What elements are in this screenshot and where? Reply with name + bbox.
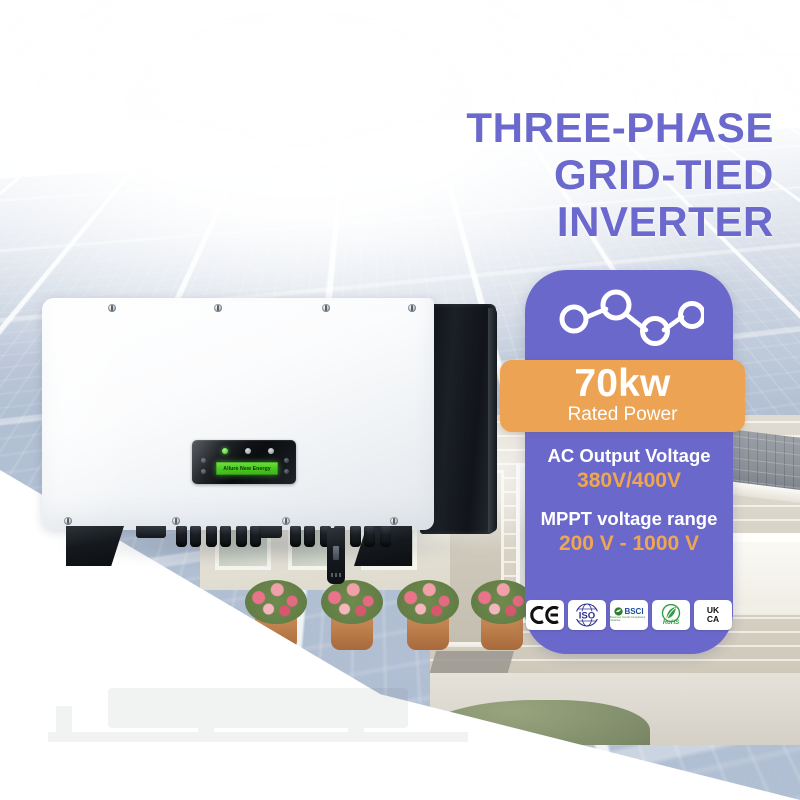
dc-connector bbox=[206, 526, 217, 547]
dc-connector bbox=[220, 526, 231, 547]
cover-screw bbox=[390, 517, 398, 525]
headline-line-3: INVERTER bbox=[254, 198, 774, 245]
inverter-ghost-reflection bbox=[48, 688, 468, 780]
specification-list: AC Output Voltage 380V/400V MPPT voltage… bbox=[525, 444, 733, 557]
mounting-bracket-left bbox=[66, 526, 124, 566]
certification-badge-group: ISO BSCI Business Social Compliance Init… bbox=[525, 600, 733, 630]
bsci-certification-badge: BSCI Business Social Compliance Initiati… bbox=[610, 600, 648, 630]
ghost-connector bbox=[56, 706, 72, 732]
ce-certification-badge bbox=[526, 600, 564, 630]
wifi-dongle bbox=[327, 528, 345, 584]
spec-value-mppt-range: 200 V - 1000 V bbox=[525, 531, 733, 557]
dc-connector bbox=[236, 526, 247, 547]
cover-screw bbox=[322, 304, 330, 312]
network-nodes-icon bbox=[525, 282, 733, 354]
ukca-certification-badge: UK CA bbox=[694, 600, 732, 630]
dc-connector bbox=[190, 526, 201, 547]
dongle-leds bbox=[331, 573, 341, 577]
rated-power-value: 70kw bbox=[574, 365, 670, 403]
cover-screw bbox=[282, 517, 290, 525]
rohs-label: RoHS bbox=[663, 620, 679, 626]
spec-title-ac-output: AC Output Voltage bbox=[525, 444, 733, 468]
rohs-certification-badge: RoHS bbox=[652, 600, 690, 630]
dc-connector bbox=[350, 526, 361, 547]
svg-text:ISO: ISO bbox=[579, 610, 596, 621]
spec-value-ac-output: 380V/400V bbox=[525, 468, 733, 494]
bsci-label: BSCI bbox=[624, 608, 643, 616]
ukca-logo: UK CA bbox=[707, 606, 719, 624]
ghost-rail bbox=[48, 732, 468, 742]
marketing-banner: Allure New Energy THREE-PHASE GRID-TIED bbox=[0, 0, 800, 800]
headline-line-1: THREE-PHASE bbox=[254, 104, 774, 151]
cover-screw bbox=[408, 304, 416, 312]
inverter-side-edge bbox=[488, 308, 497, 532]
inverter-front-cover bbox=[42, 298, 434, 530]
ghost-connector bbox=[198, 706, 214, 732]
cover-screw bbox=[172, 517, 180, 525]
dc-connector bbox=[290, 526, 301, 547]
vent-cover bbox=[136, 526, 166, 538]
ukca-label-bottom: CA bbox=[707, 615, 719, 624]
cover-screw bbox=[64, 517, 72, 525]
dc-connector bbox=[380, 526, 391, 547]
ghost-connector bbox=[348, 706, 364, 732]
inverter-connector-rail bbox=[42, 526, 434, 562]
page-title: THREE-PHASE GRID-TIED INVERTER bbox=[254, 104, 774, 245]
cover-screw bbox=[214, 304, 222, 312]
spec-title-mppt-range: MPPT voltage range bbox=[525, 507, 733, 531]
iso-certification-badge: ISO bbox=[568, 600, 606, 630]
dc-connector bbox=[250, 526, 261, 547]
cover-screw bbox=[108, 304, 116, 312]
dc-connector bbox=[176, 526, 187, 547]
bsci-sublabel: Business Social Compliance Initiative bbox=[610, 617, 648, 622]
headline-line-2: GRID-TIED bbox=[254, 151, 774, 198]
spec-divider bbox=[525, 494, 733, 507]
dongle-window bbox=[333, 546, 339, 560]
inverter-product-image: Allure New Energy bbox=[42, 298, 482, 588]
dc-connector bbox=[364, 526, 375, 547]
display-glare bbox=[192, 440, 296, 484]
inverter-display-module[interactable]: Allure New Energy bbox=[192, 440, 296, 484]
dc-connector bbox=[304, 526, 315, 547]
rated-power-label: Rated Power bbox=[568, 403, 678, 427]
rated-power-banner: 70kw Rated Power bbox=[500, 360, 745, 432]
